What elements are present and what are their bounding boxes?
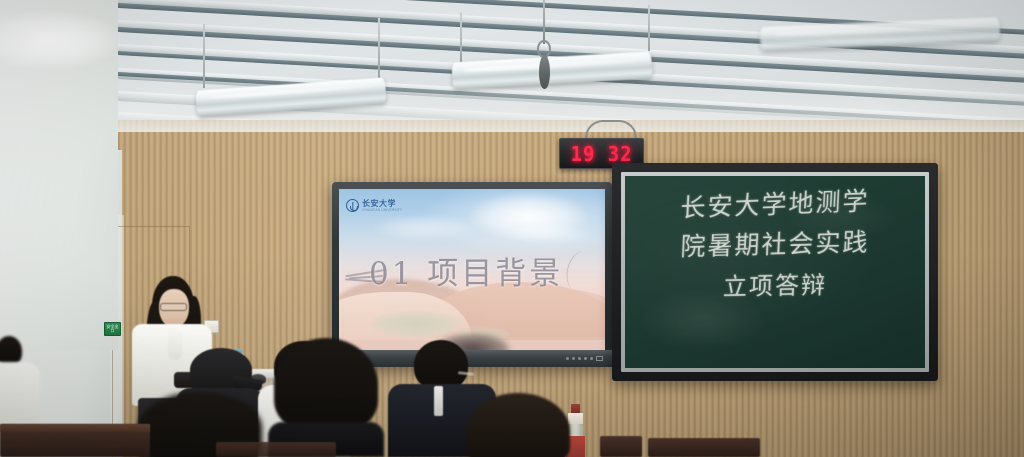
- desk-left-top: [0, 424, 150, 432]
- clock-time-display: 19 32: [571, 144, 633, 164]
- desk-center: [216, 442, 336, 457]
- presenter-glasses: [160, 303, 187, 311]
- university-logo-subtext: CHANG'AN UNIVERSITY: [362, 209, 402, 212]
- panel-right-controls[interactable]: [566, 356, 603, 361]
- audience-member-front-right: [466, 393, 570, 457]
- panel-input-icon[interactable]: [596, 356, 603, 361]
- desk-right-b: [648, 438, 760, 457]
- clock-mount-bracket: [585, 120, 637, 138]
- front-center-head: [274, 338, 378, 432]
- green-chalkboard: 长安大学地测学 院暑期社会实践 立项答辩: [612, 163, 938, 381]
- university-logo-text: 长安大学: [362, 199, 402, 207]
- panel-indicator-3-icon: [578, 357, 581, 360]
- projector-hook-cord: [543, 0, 545, 44]
- water-bottle-floor-label: [568, 413, 583, 424]
- panel-indicator-5-icon: [590, 357, 593, 360]
- emergency-exit-sign: 安全出口: [104, 322, 121, 336]
- light-rod-left-a: [203, 24, 205, 88]
- audience-member-front-center: [274, 338, 378, 457]
- desk-right-a: [600, 436, 642, 457]
- exit-sign-text: 安全出口: [105, 325, 120, 334]
- panel-indicator-1-icon: [566, 357, 569, 360]
- university-logo-mark: [346, 199, 359, 212]
- chalkboard-line-2: 院暑期社会实践: [625, 228, 925, 260]
- light-rod-center-a: [460, 12, 462, 62]
- front-right-head: [466, 393, 570, 457]
- university-logo: 长安大学 CHANG'AN UNIVERSITY: [346, 199, 402, 212]
- panel-screen[interactable]: 长安大学 CHANG'AN UNIVERSITY 01 项目背景: [339, 189, 605, 350]
- projector-hook-blade: [539, 55, 550, 89]
- chalkboard-surface: 长安大学地测学 院暑期社会实践 立项答辩: [625, 176, 925, 368]
- slide-title: 01 项目背景: [369, 259, 563, 290]
- water-bottle-floor-cap: [571, 404, 580, 413]
- light-rod-center-b: [648, 5, 650, 51]
- suit-collar: [434, 386, 443, 416]
- light-rod-left-b: [378, 18, 380, 78]
- panel-indicator-2-icon: [572, 357, 575, 360]
- presentation-slide: 长安大学 CHANG'AN UNIVERSITY 01 项目背景: [339, 189, 605, 350]
- chalkboard-aluminium-frame: 长安大学地测学 院暑期社会实践 立项答辩: [621, 172, 929, 372]
- suit-head: [414, 340, 468, 390]
- panel-indicator-4-icon: [584, 357, 587, 360]
- classroom-scene: 19 32 安全出口 长安大学: [0, 0, 1024, 457]
- slide-decoration-right: [563, 248, 598, 293]
- chalkboard-line-3: 立项答辩: [625, 271, 925, 300]
